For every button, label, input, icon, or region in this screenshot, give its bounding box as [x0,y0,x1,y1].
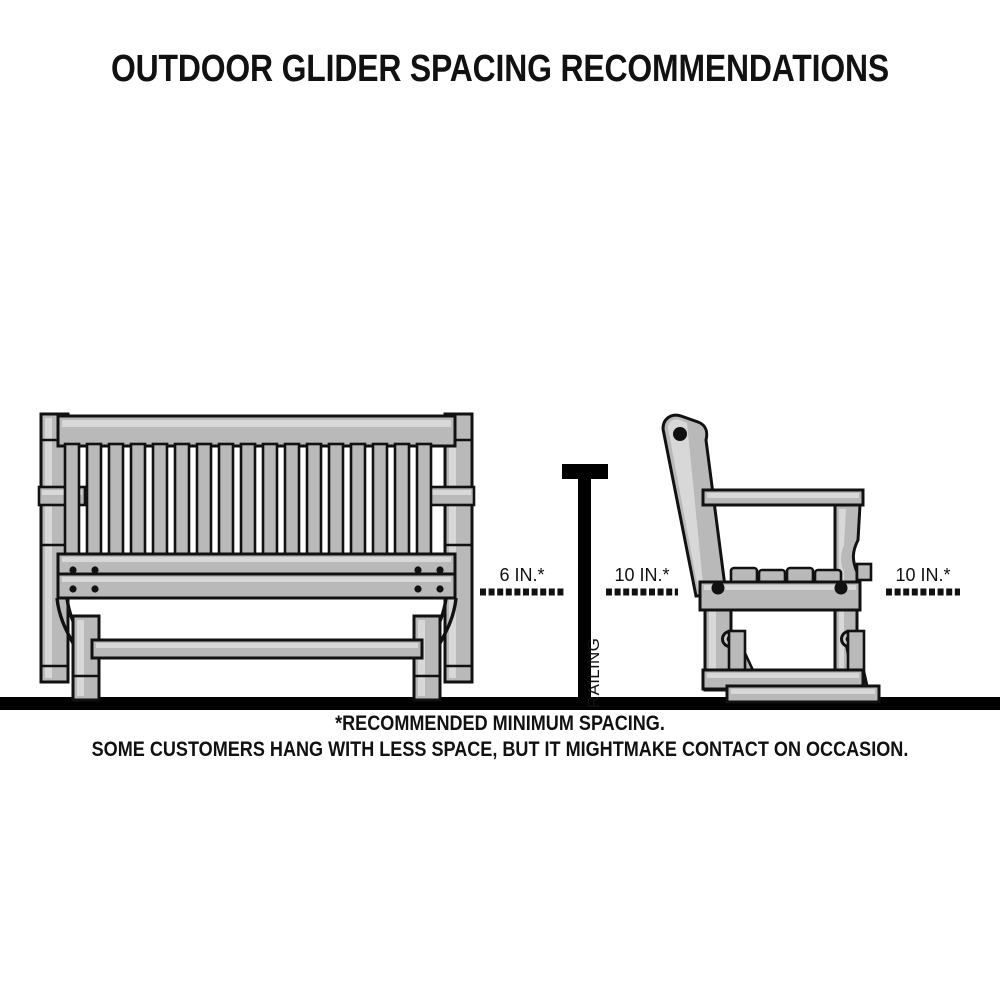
bench-right-post [445,414,472,682]
bench-top-rail [58,416,455,446]
glider-base-runner [727,686,879,702]
bench-right-arm-bracket [428,487,474,505]
railing-label: RAILING [584,638,604,708]
footnote-line-2: SOME CUSTOMERS HANG WITH LESS SPACE, BUT… [70,738,930,762]
page-title: OUTDOOR GLIDER SPACING RECOMMENDATIONS [80,48,920,91]
glider-front-post-bracket [857,564,871,580]
dimension-label-railing-to-glider: 10 IN.* [592,565,692,586]
glider-side-elevation [663,415,879,702]
bench-seat-rail [58,554,455,598]
bench-back-slats [65,444,431,556]
glider-seat-rail [700,582,860,611]
glider-armrest [703,490,863,505]
bench-front-elevation [39,414,474,700]
dimension-label-glider-to-next: 10 IN.* [873,565,973,586]
footnote-line-1: *RECOMMENDED MINIMUM SPACING. [70,712,930,736]
technical-drawing: .wood { fill: #b9b9b9; stroke: #111111; … [0,0,1000,1000]
dimension-label-bench-to-railing: 6 IN.* [472,565,572,586]
bench-lower-stretcher [92,640,422,658]
diagram-canvas: OUTDOOR GLIDER SPACING RECOMMENDATIONS .… [0,0,1000,1000]
